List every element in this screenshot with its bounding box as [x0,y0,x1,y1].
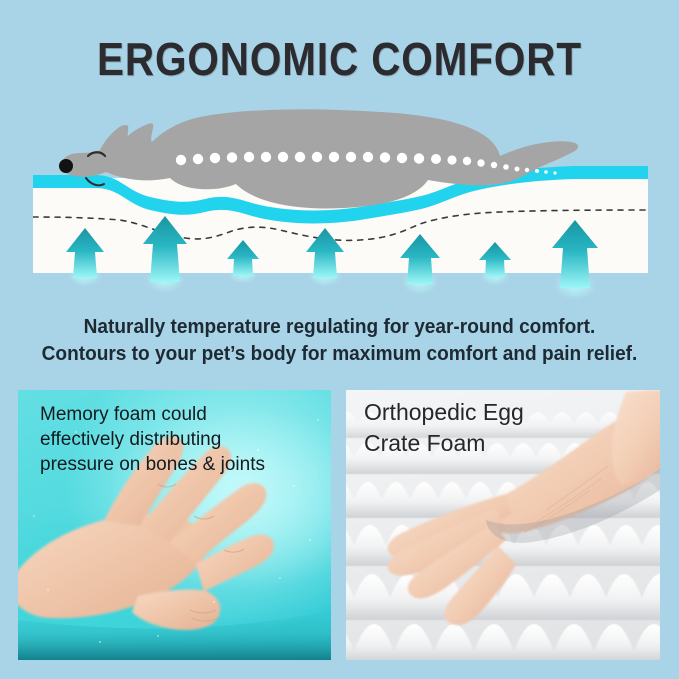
panel-memory-foam: Memory foam could effectively distributi… [18,390,331,660]
infographic-page: ERGONOMIC COMFORT [0,0,679,679]
panel-egg-crate-caption: Orthopedic Egg Crate Foam [364,397,524,459]
panel-memory-foam-caption: Memory foam could effectively distributi… [40,402,265,477]
pet-mattress-diagram [0,100,679,305]
body-copy-line-1: Naturally temperature regulating for yea… [24,313,655,340]
caption-line-3: pressure on bones & joints [40,454,265,475]
body-copy-line-2: Contours to your pet’s body for maximum … [24,340,655,367]
caption-line-2: Crate Foam [364,430,485,456]
caption-line-1: Memory foam could [40,404,207,425]
caption-line-1: Orthopedic Egg [364,399,524,425]
panel-egg-crate-foam: Orthopedic Egg Crate Foam [346,390,660,660]
feature-panels: Memory foam could effectively distributi… [0,390,679,660]
hero-illustration [0,100,679,305]
caption-line-2: effectively distributing [40,429,221,450]
page-title: ERGONOMIC COMFORT [41,32,639,86]
body-copy: Naturally temperature regulating for yea… [24,313,655,367]
dog-nose-icon [59,159,73,173]
